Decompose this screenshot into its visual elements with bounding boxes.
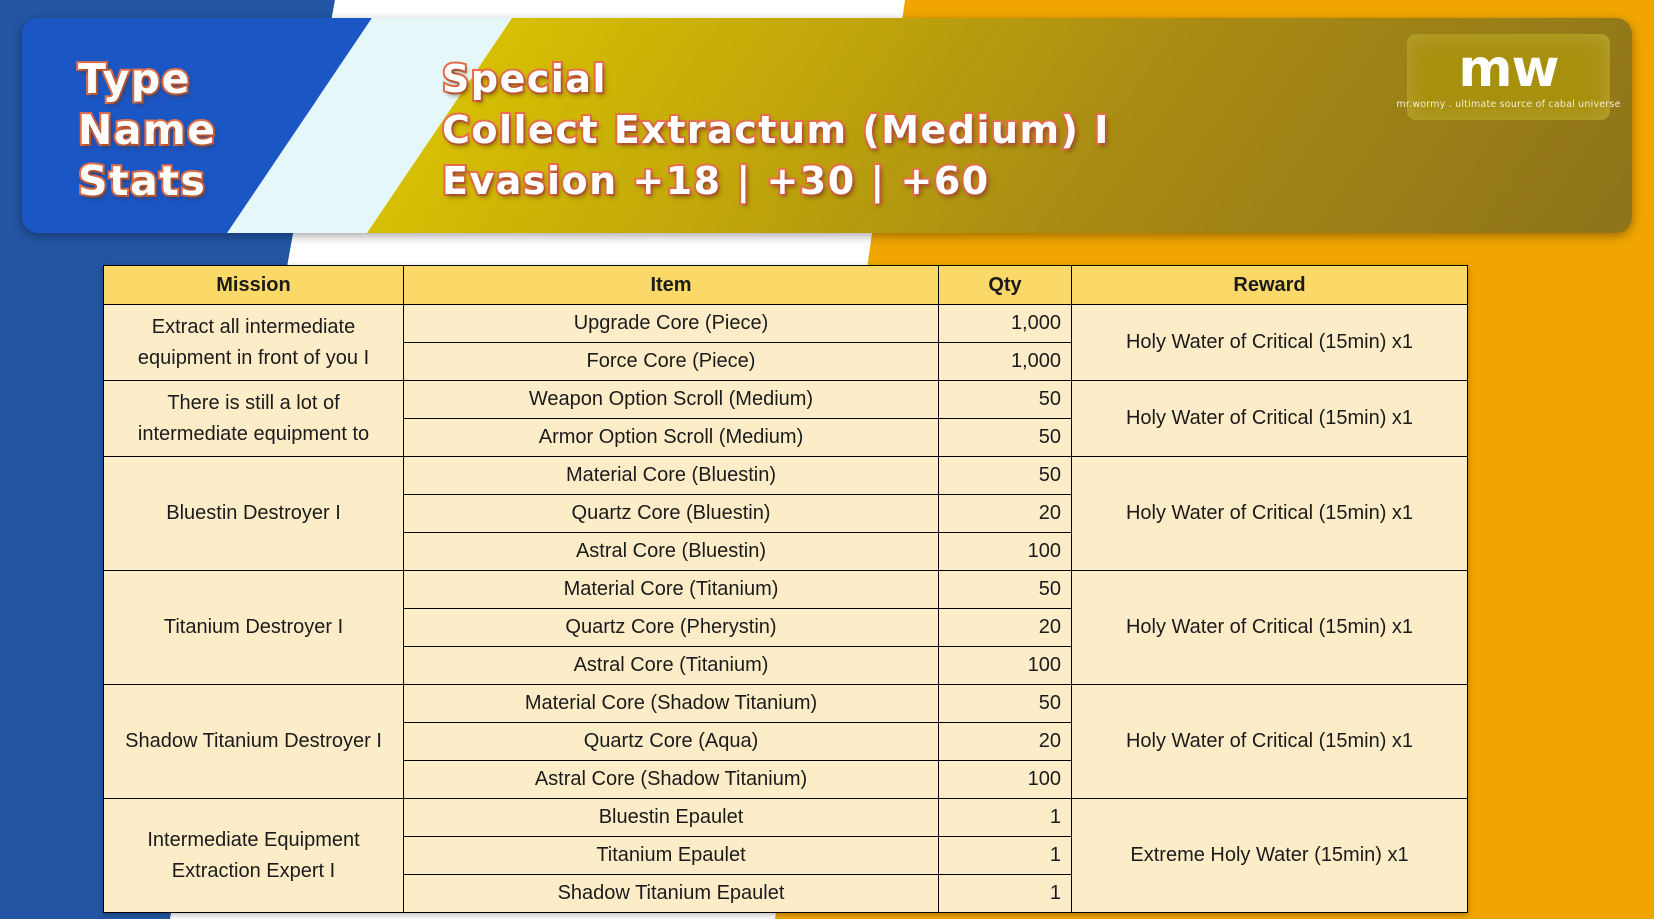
item-cell: Material Core (Bluestin) xyxy=(404,457,939,495)
header-panel: Type Name Stats Special Collect Extractu… xyxy=(22,18,1632,233)
item-cell: Astral Core (Bluestin) xyxy=(404,533,939,571)
mission-cell: Shadow Titanium Destroyer I xyxy=(104,685,404,799)
header-value-type: Special xyxy=(442,54,1110,105)
item-cell: Astral Core (Titanium) xyxy=(404,647,939,685)
qty-cell: 20 xyxy=(939,609,1072,647)
reward-cell: Holy Water of Critical (15min) x1 xyxy=(1072,305,1468,381)
item-cell: Astral Core (Shadow Titanium) xyxy=(404,761,939,799)
qty-cell: 1,000 xyxy=(939,305,1072,343)
item-cell: Quartz Core (Bluestin) xyxy=(404,495,939,533)
item-cell: Titanium Epaulet xyxy=(404,837,939,875)
header-value-stats: Evasion +18 | +30 | +60 xyxy=(442,156,1110,207)
item-cell: Force Core (Piece) xyxy=(404,343,939,381)
qty-cell: 50 xyxy=(939,419,1072,457)
header-value-name: Collect Extractum (Medium) I xyxy=(442,105,1110,156)
item-cell: Material Core (Titanium) xyxy=(404,571,939,609)
column-header-mission: Mission xyxy=(104,266,404,305)
site-logo: mw mr.wormy . ultimate source of cabal u… xyxy=(1407,34,1610,120)
item-cell: Armor Option Scroll (Medium) xyxy=(404,419,939,457)
reward-cell: Holy Water of Critical (15min) x1 xyxy=(1072,457,1468,571)
column-header-qty: Qty xyxy=(939,266,1072,305)
logo-tagline: mr.wormy . ultimate source of cabal univ… xyxy=(1396,99,1620,110)
reward-cell: Holy Water of Critical (15min) x1 xyxy=(1072,685,1468,799)
qty-cell: 100 xyxy=(939,761,1072,799)
item-cell: Upgrade Core (Piece) xyxy=(404,305,939,343)
qty-cell: 1,000 xyxy=(939,343,1072,381)
column-header-item: Item xyxy=(404,266,939,305)
item-cell: Quartz Core (Pherystin) xyxy=(404,609,939,647)
item-cell: Material Core (Shadow Titanium) xyxy=(404,685,939,723)
qty-cell: 1 xyxy=(939,799,1072,837)
table-row: There is still a lot of intermediate equ… xyxy=(104,381,1468,419)
reward-cell: Holy Water of Critical (15min) x1 xyxy=(1072,571,1468,685)
table-row: Intermediate Equipment Extraction Expert… xyxy=(104,799,1468,837)
mission-cell: Titanium Destroyer I xyxy=(104,571,404,685)
reward-cell: Extreme Holy Water (15min) x1 xyxy=(1072,799,1468,913)
qty-cell: 50 xyxy=(939,685,1072,723)
reward-cell: Holy Water of Critical (15min) x1 xyxy=(1072,381,1468,457)
qty-cell: 1 xyxy=(939,875,1072,913)
table-body: Extract all intermediate equipment in fr… xyxy=(104,305,1468,913)
table-row: Shadow Titanium Destroyer IMaterial Core… xyxy=(104,685,1468,723)
qty-cell: 50 xyxy=(939,381,1072,419)
qty-cell: 20 xyxy=(939,495,1072,533)
qty-cell: 50 xyxy=(939,457,1072,495)
table-row: Extract all intermediate equipment in fr… xyxy=(104,305,1468,343)
header-label-name: Name xyxy=(78,105,217,156)
mission-cell: Intermediate Equipment Extraction Expert… xyxy=(104,799,404,913)
table-row: Titanium Destroyer IMaterial Core (Titan… xyxy=(104,571,1468,609)
logo-mark-text: mw xyxy=(1458,44,1558,94)
qty-cell: 100 xyxy=(939,533,1072,571)
qty-cell: 50 xyxy=(939,571,1072,609)
item-cell: Bluestin Epaulet xyxy=(404,799,939,837)
mission-cell: Bluestin Destroyer I xyxy=(104,457,404,571)
table-row: Bluestin Destroyer IMaterial Core (Blues… xyxy=(104,457,1468,495)
header-label-type: Type xyxy=(78,54,217,105)
column-header-reward: Reward xyxy=(1072,266,1468,305)
qty-cell: 20 xyxy=(939,723,1072,761)
header-label-stats: Stats xyxy=(78,156,217,207)
item-cell: Weapon Option Scroll (Medium) xyxy=(404,381,939,419)
item-cell: Quartz Core (Aqua) xyxy=(404,723,939,761)
qty-cell: 1 xyxy=(939,837,1072,875)
header-value-group: Special Collect Extractum (Medium) I Eva… xyxy=(442,54,1110,207)
table-header-row: Mission Item Qty Reward xyxy=(104,266,1468,305)
header-label-group: Type Name Stats xyxy=(78,54,217,207)
mission-cell: Extract all intermediate equipment in fr… xyxy=(104,305,404,381)
mission-cell: There is still a lot of intermediate equ… xyxy=(104,381,404,457)
quest-reward-table: Mission Item Qty Reward Extract all inte… xyxy=(103,265,1468,913)
qty-cell: 100 xyxy=(939,647,1072,685)
item-cell: Shadow Titanium Epaulet xyxy=(404,875,939,913)
